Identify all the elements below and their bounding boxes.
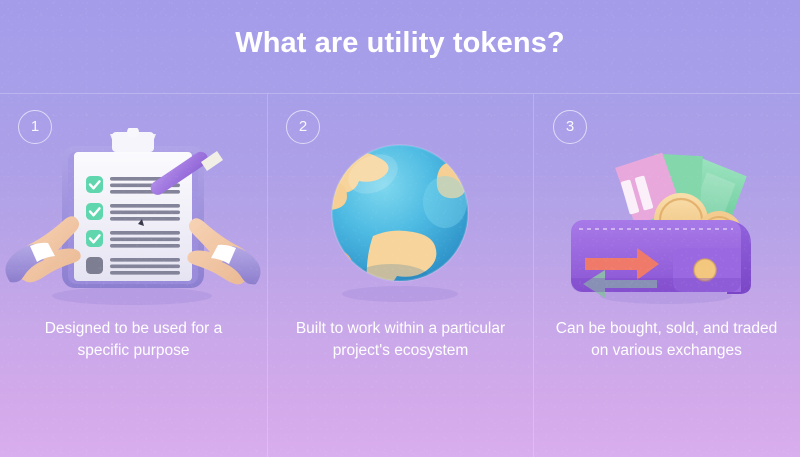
globe-icon	[267, 128, 534, 308]
column-3: 3	[533, 94, 800, 457]
column-caption-3: Can be bought, sold, and traded on vario…	[551, 318, 782, 362]
column-2: 2	[267, 94, 534, 457]
wallet-icon	[533, 128, 800, 308]
infographic-slide: What are utility tokens? 1	[0, 0, 800, 457]
column-caption-2: Built to work within a particular projec…	[285, 318, 516, 362]
header: What are utility tokens?	[0, 0, 800, 93]
column-caption-1: Designed to be used for a specific purpo…	[18, 318, 249, 362]
page-title: What are utility tokens?	[0, 27, 800, 60]
column-1: 1	[0, 94, 267, 457]
clipboard-checklist-icon	[0, 128, 267, 308]
